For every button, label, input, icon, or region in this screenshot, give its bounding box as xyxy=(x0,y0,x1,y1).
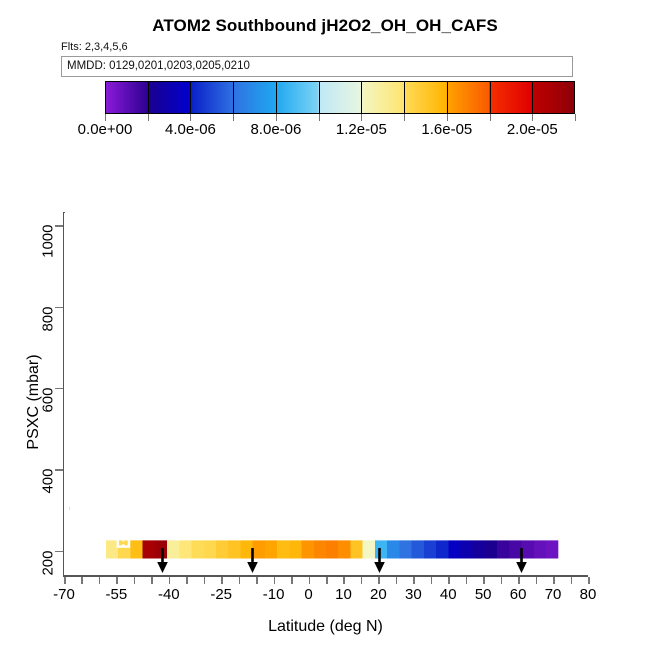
x-axis-tick-label: 40 xyxy=(440,586,457,603)
x-axis-tick xyxy=(571,577,573,584)
heatmap-canvas xyxy=(64,213,588,575)
colorbar-band-separators xyxy=(105,81,575,114)
colorbar-tick-label: 1.2e-05 xyxy=(336,121,387,138)
x-axis-tick xyxy=(466,577,468,584)
dates-box: MMDD: 0129,0201,0203,0205,0210 xyxy=(61,56,573,77)
x-axis-tick xyxy=(221,577,223,584)
x-axis-tick-label: -40 xyxy=(158,586,180,603)
x-axis-tick-label: 20 xyxy=(370,586,387,603)
y-axis-tick-label: 400 xyxy=(40,469,57,517)
heatmap-svg xyxy=(64,213,588,575)
x-axis-tick xyxy=(326,577,328,584)
page-title: ATOM2 Southbound jH2O2_OH_OH_CAFS xyxy=(0,16,650,36)
flights-label: Flts: 2,3,4,5,6 xyxy=(61,41,128,53)
x-axis-tick xyxy=(64,577,66,584)
x-axis-tick-label: -10 xyxy=(263,586,285,603)
x-axis-tick xyxy=(309,577,311,584)
flight-start-arrow xyxy=(373,548,386,574)
colorbar-tick-label: 4.0e-06 xyxy=(165,121,216,138)
dates-label: MMDD: 0129,0201,0203,0205,0210 xyxy=(67,60,250,72)
x-axis-tick-label: -70 xyxy=(53,586,75,603)
colorbar-tick-label: 1.6e-05 xyxy=(421,121,472,138)
x-axis-tick xyxy=(81,577,83,584)
x-axis-tick-label: 0 xyxy=(304,586,312,603)
x-axis-tick xyxy=(553,577,555,584)
x-axis-tick xyxy=(413,577,415,584)
x-axis-tick-label: 70 xyxy=(545,586,562,603)
colorbar-ticks xyxy=(105,114,575,121)
x-axis-tick xyxy=(501,577,503,584)
x-axis-label: Latitude (deg N) xyxy=(63,618,588,636)
x-axis-tick-label: 50 xyxy=(475,586,492,603)
top-blank-mask xyxy=(64,213,588,540)
x-axis-tick-label: -25 xyxy=(210,586,232,603)
x-axis-tick xyxy=(431,577,433,584)
colorbar-tick-label: 2.0e-05 xyxy=(507,121,558,138)
x-axis-tick xyxy=(396,577,398,584)
x-axis-tick xyxy=(169,577,171,584)
flight-start-arrow xyxy=(515,548,528,574)
x-axis-tick xyxy=(291,577,293,584)
y-axis-label: PSXC (mbar) xyxy=(25,332,43,472)
right-blank-mask xyxy=(558,213,588,575)
plot-root: ATOM2 Southbound jH2O2_OH_OH_CAFS Flts: … xyxy=(0,0,650,650)
x-axis-tick xyxy=(99,577,101,584)
x-axis-tick xyxy=(378,577,380,584)
colorbar-tick-label: 0.0e+00 xyxy=(78,121,133,138)
x-axis-tick xyxy=(343,577,345,584)
x-axis-tick xyxy=(256,577,258,584)
flight-start-arrow xyxy=(156,548,169,574)
x-axis-tick xyxy=(588,577,590,584)
x-axis-tick xyxy=(274,577,276,584)
x-axis-tick-label: 80 xyxy=(580,586,597,603)
x-axis-tick xyxy=(361,577,363,584)
x-axis-tick-label: -55 xyxy=(106,586,128,603)
x-axis-tick xyxy=(186,577,188,584)
x-axis-tick xyxy=(134,577,136,584)
x-axis-tick xyxy=(448,577,450,584)
x-axis-tick-label: 60 xyxy=(510,586,527,603)
x-axis-tick xyxy=(518,577,520,584)
x-axis-tick xyxy=(536,577,538,584)
x-axis-tick-label: 10 xyxy=(335,586,352,603)
y-axis-tick-label: 1000 xyxy=(40,225,57,273)
x-axis-tick xyxy=(204,577,206,584)
x-axis-tick xyxy=(483,577,485,584)
flight-start-arrow xyxy=(246,548,259,574)
x-axis-tick xyxy=(116,577,118,584)
x-axis-tick xyxy=(239,577,241,584)
colorbar-tick-labels: 0.0e+004.0e-068.0e-061.2e-051.6e-052.0e-… xyxy=(105,121,575,141)
colorbar: 0.0e+004.0e-068.0e-061.2e-051.6e-052.0e-… xyxy=(105,81,575,114)
colorbar-tick-label: 8.0e-06 xyxy=(250,121,301,138)
x-axis-tick xyxy=(151,577,153,584)
x-axis-tick-label: 30 xyxy=(405,586,422,603)
